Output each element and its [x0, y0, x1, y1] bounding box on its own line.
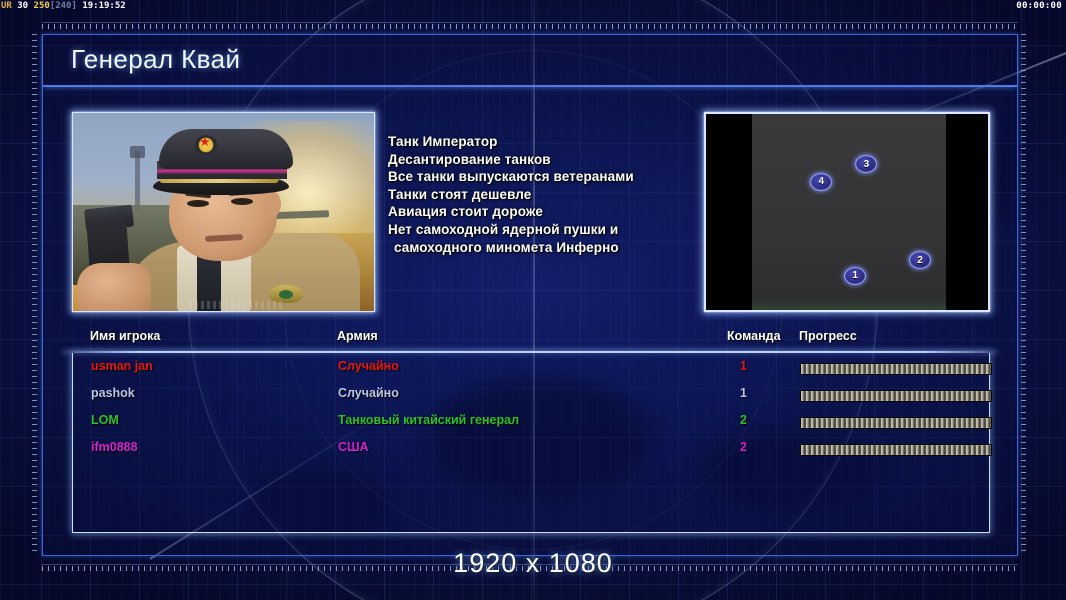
map-start-position-1[interactable]: 1 — [844, 267, 866, 285]
general-portrait — [72, 112, 375, 312]
map-start-position-label: 4 — [819, 176, 825, 187]
player-progress-fill — [801, 445, 991, 455]
player-army: США — [338, 440, 369, 454]
memory-value: 250 — [34, 1, 50, 11]
page-title: Генерал Квай — [71, 44, 240, 75]
session-time: 19:19:52 — [82, 1, 125, 11]
title-bar: Генерал Квай — [43, 35, 1017, 87]
table-row[interactable]: usman jan Случайно 1 — [73, 359, 989, 380]
portrait-hand — [77, 263, 151, 311]
player-progress-bar — [800, 390, 992, 402]
column-header-name: Имя игрока — [90, 329, 160, 343]
portrait-cap-top — [159, 129, 293, 169]
player-army: Случайно — [338, 359, 399, 373]
player-progress-fill — [801, 391, 991, 401]
player-progress-bar — [800, 417, 992, 429]
table-row[interactable]: LOM Танковый китайский генерал 2 — [73, 413, 989, 434]
player-army: Случайно — [338, 386, 399, 400]
description-line: Все танки выпускаются ветеранами — [388, 168, 708, 186]
map-preview[interactable]: 1 2 3 4 — [704, 112, 990, 312]
portrait-watermark — [189, 301, 285, 309]
resolution-caption: 1920 x 1080 — [0, 548, 1066, 579]
ruler-right — [1019, 34, 1028, 556]
portrait-cap-insignia — [195, 135, 217, 155]
player-team: 2 — [740, 413, 747, 427]
fps-counter: UR 30 250[240] 19:19:52 — [1, 0, 126, 13]
fps-value: 30 — [17, 1, 28, 11]
player-team: 2 — [740, 440, 747, 454]
player-progress-bar — [800, 444, 992, 456]
description-line: Нет самоходной ядерной пушки и — [388, 221, 708, 239]
column-header-army: Армия — [337, 329, 378, 343]
description-line: Танки стоят дешевле — [388, 186, 708, 204]
portrait-ear — [263, 191, 281, 217]
memory-alt-value: [240] — [50, 1, 77, 11]
player-army: Танковый китайский генерал — [338, 413, 519, 427]
main-panel: Генерал Квай — [42, 34, 1018, 556]
player-table-header: Имя игрока Армия Команда Прогресс — [72, 329, 988, 349]
player-name: pashok — [91, 386, 135, 400]
ruler-left — [30, 34, 39, 556]
portrait-eye-left — [187, 200, 209, 207]
ruler-top — [42, 22, 1018, 31]
map-preview-inner: 1 2 3 4 — [706, 114, 988, 310]
player-team: 1 — [740, 386, 747, 400]
game-lobby-screen: UR 30 250[240] 19:19:52 00:00:00 Генерал… — [0, 0, 1066, 600]
player-name: usman jan — [91, 359, 153, 373]
description-line: Десантирование танков — [388, 151, 708, 169]
portrait-eye-right — [231, 198, 253, 205]
player-name: ifm0888 — [91, 440, 138, 454]
player-progress-fill — [801, 418, 991, 428]
map-start-position-label: 2 — [917, 255, 923, 266]
table-row[interactable]: pashok Случайно 1 — [73, 386, 989, 407]
portrait-tower — [135, 151, 140, 211]
map-start-position-label: 1 — [852, 270, 858, 281]
column-header-team: Команда — [727, 329, 781, 343]
description-line: самоходного миномета Инферно — [388, 239, 708, 257]
general-info-row: Танк Император Десантирование танков Все… — [43, 93, 1017, 311]
player-list: usman jan Случайно 1 pashok Случайно 1 L… — [72, 353, 990, 533]
os-status-bar: UR 30 250[240] 19:19:52 00:00:00 — [0, 0, 1066, 13]
fps-label: UR — [1, 1, 12, 11]
description-line: Авиация стоит дороже — [388, 203, 708, 221]
player-team: 1 — [740, 359, 747, 373]
player-name: LOM — [91, 413, 119, 427]
player-progress-fill — [801, 364, 991, 374]
table-row[interactable]: ifm0888 США 2 — [73, 440, 989, 461]
general-description: Танк Император Десантирование танков Все… — [388, 133, 708, 256]
description-line: Танк Император — [388, 133, 708, 151]
portrait-artwork — [73, 113, 374, 311]
map-start-position-label: 3 — [864, 159, 870, 170]
player-progress-bar — [800, 363, 992, 375]
map-start-position-4[interactable]: 4 — [810, 173, 832, 191]
game-clock: 00:00:00 — [1016, 0, 1062, 13]
column-header-progress: Прогресс — [799, 329, 857, 343]
portrait-tower-head — [130, 146, 145, 158]
